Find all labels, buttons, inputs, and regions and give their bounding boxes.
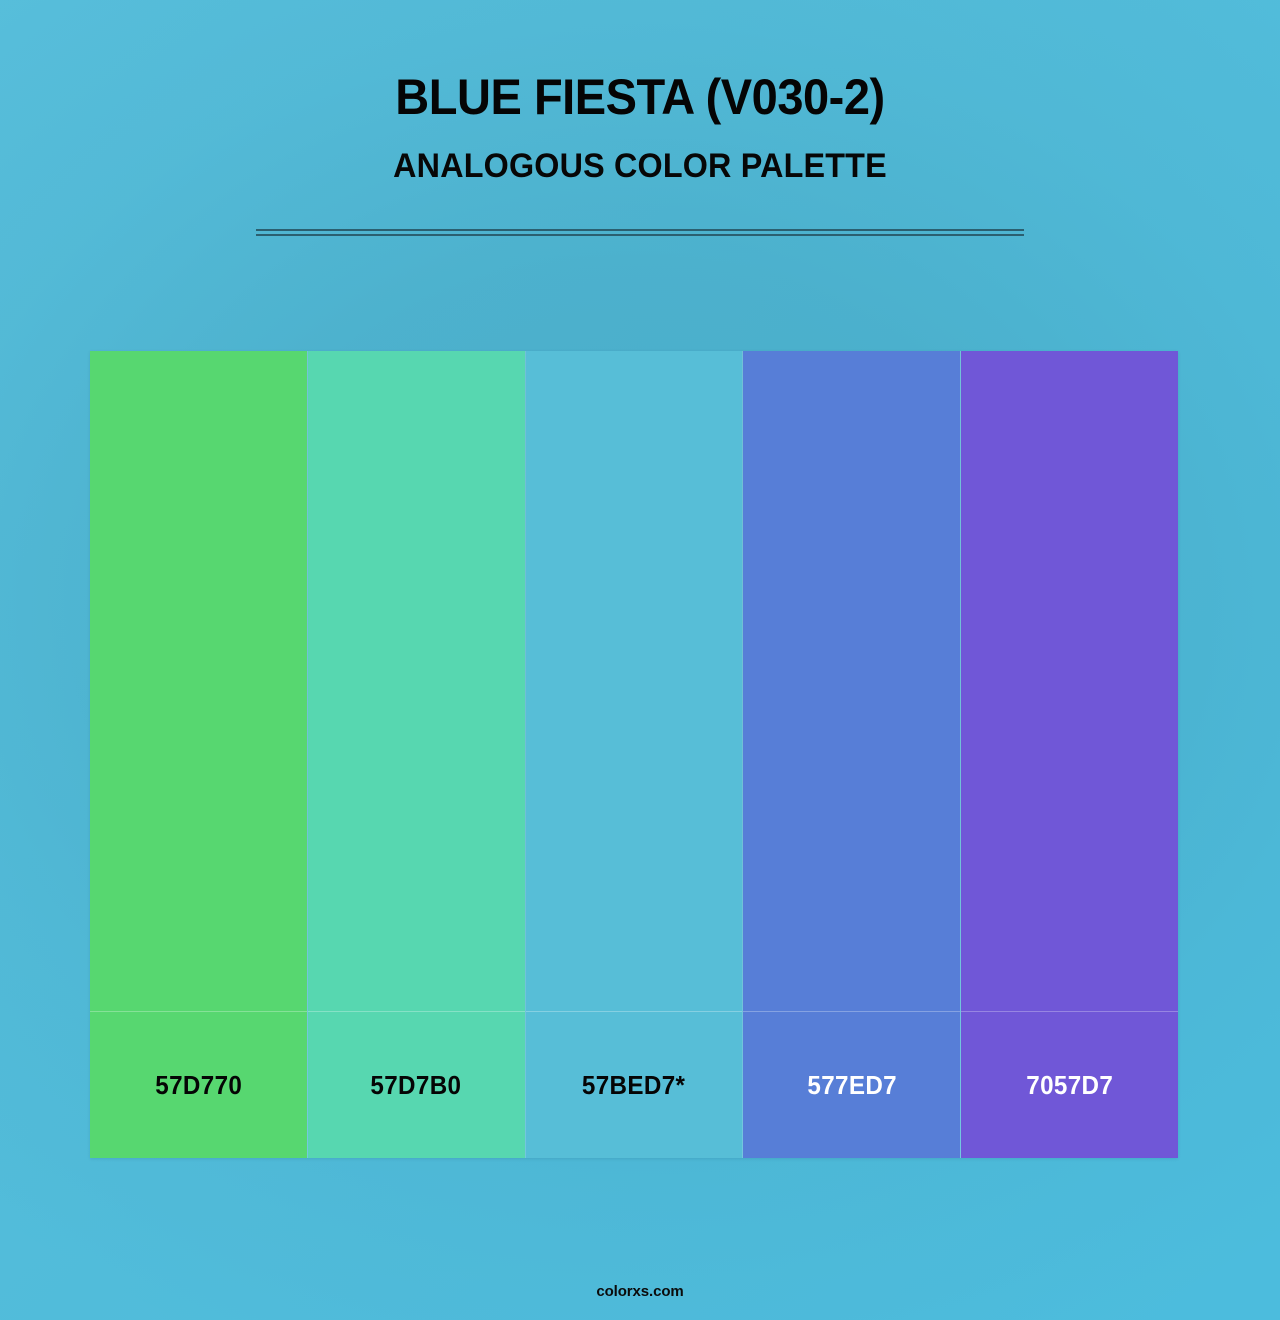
color-swatch[interactable]: 7057D7 [961, 351, 1178, 1158]
swatch-hex-label: 7057D7 [1026, 1070, 1113, 1101]
swatch-color-area[interactable] [308, 351, 525, 1012]
swatch-hex-label: 577ED7 [807, 1070, 897, 1101]
color-swatch[interactable]: 577ED7 [743, 351, 961, 1158]
swatch-label-band: 577ED7 [743, 1012, 960, 1158]
swatch-color-area[interactable] [90, 351, 307, 1012]
color-swatch-strip: 57D770 57D7B0 57BED7* 577ED7 7057D7 [90, 351, 1178, 1158]
header-divider [256, 229, 1024, 237]
page-subtitle: ANALOGOUS COLOR PALETTE [32, 123, 1248, 185]
site-credit: colorxs.com [596, 1283, 683, 1300]
swatch-color-area[interactable] [743, 351, 960, 1012]
swatch-hex-label: 57D770 [155, 1070, 242, 1101]
page-title: BLUE FIESTA (V030-2) [38, 0, 1241, 123]
page-header: BLUE FIESTA (V030-2) ANALOGOUS COLOR PAL… [0, 0, 1280, 185]
swatch-hex-label: 57D7B0 [371, 1070, 462, 1101]
swatch-color-area[interactable] [526, 351, 743, 1012]
color-swatch[interactable]: 57D7B0 [308, 351, 526, 1158]
divider-line-top [256, 229, 1024, 231]
swatch-label-band: 57D770 [90, 1012, 307, 1158]
color-swatch-base[interactable]: 57BED7* [526, 351, 744, 1158]
swatch-hex-label: 57BED7* [582, 1070, 685, 1101]
color-palette-page: BLUE FIESTA (V030-2) ANALOGOUS COLOR PAL… [0, 0, 1280, 1320]
swatch-color-area[interactable] [961, 351, 1178, 1012]
swatch-label-band: 57D7B0 [308, 1012, 525, 1158]
swatch-label-band: 57BED7* [526, 1012, 743, 1158]
divider-line-bottom [256, 234, 1024, 236]
color-swatch[interactable]: 57D770 [90, 351, 308, 1158]
swatch-label-band: 7057D7 [961, 1012, 1178, 1158]
page-footer: colorxs.com [0, 1283, 1280, 1301]
